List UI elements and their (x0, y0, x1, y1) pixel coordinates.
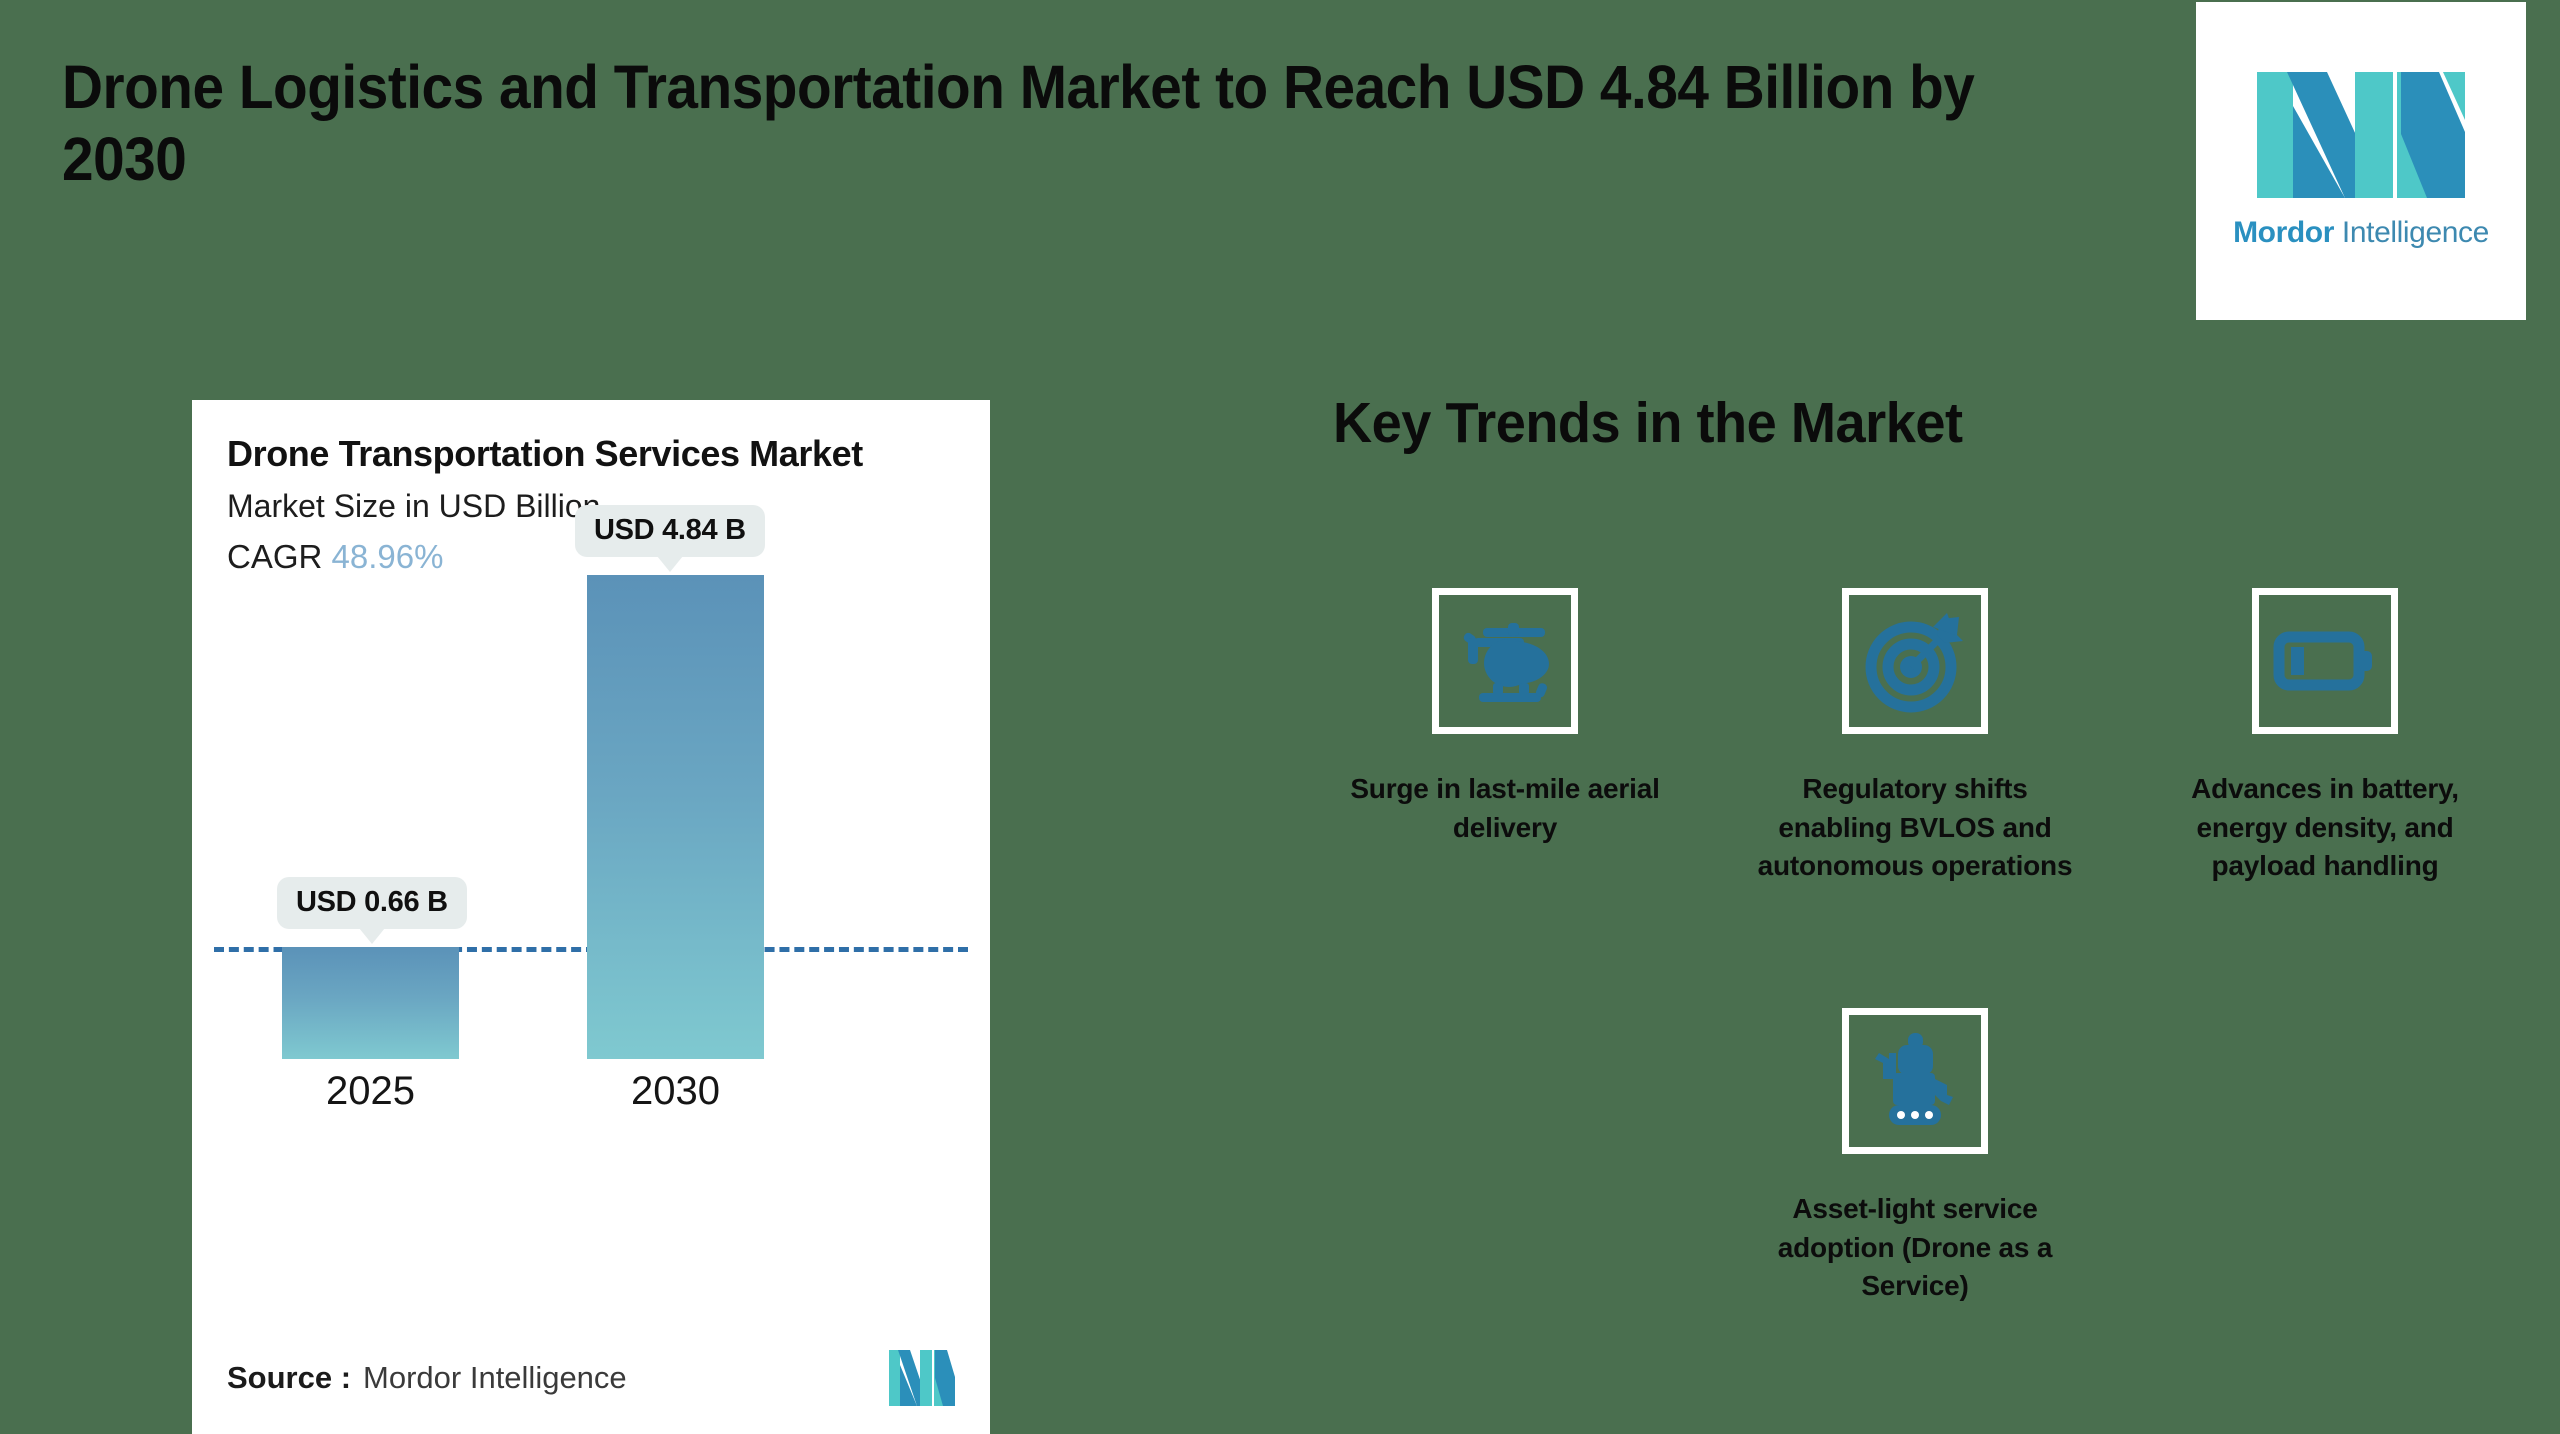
trend-icon-frame (2252, 588, 2398, 734)
mordor-intelligence-mark-icon (889, 1350, 955, 1406)
battery-icon (2273, 609, 2377, 713)
source-label: Source : (227, 1360, 351, 1396)
brand-wordmark-light: Intelligence (2334, 216, 2489, 249)
x-axis-label-2025: 2025 (282, 1069, 459, 1114)
source-value: Mordor Intelligence (363, 1360, 627, 1396)
bar-2025[interactable] (282, 947, 459, 1059)
brand-logo-card: Mordor Intelligence (2196, 2, 2526, 320)
trend-caption: Asset-light service adoption (Drone as a… (1750, 1190, 2080, 1306)
chart-cagr-value: 48.96% (332, 538, 444, 575)
source-row: Source : Mordor Intelligence (227, 1350, 955, 1406)
brand-wordmark: Mordor Intelligence (2233, 216, 2489, 250)
trend-item-battery-advances: Advances in battery, energy density, and… (2145, 588, 2505, 886)
x-axis-label-2030: 2030 (587, 1069, 764, 1114)
trend-item-regulatory-shifts: Regulatory shifts enabling BVLOS and aut… (1735, 588, 2095, 886)
trend-caption: Advances in battery, energy density, and… (2160, 770, 2490, 886)
key-trends-heading: Key Trends in the Market (1333, 390, 1963, 456)
trend-icon-frame (1432, 588, 1578, 734)
bar-value-label-2025: USD 0.66 B (277, 877, 467, 929)
brand-wordmark-bold: Mordor (2233, 216, 2334, 249)
bar-value-label-2030: USD 4.84 B (575, 505, 765, 557)
trend-caption: Surge in last-mile aerial delivery (1340, 770, 1670, 847)
bar-chart-plot: USD 4.84 B USD 0.66 B 2025 2030 (192, 575, 990, 1255)
trend-icon-frame (1842, 588, 1988, 734)
page-title: Drone Logistics and Transportation Marke… (62, 52, 1978, 196)
helicopter-icon (1453, 609, 1557, 713)
trend-icon-frame (1842, 1008, 1988, 1154)
trend-item-last-mile-delivery: Surge in last-mile aerial delivery (1325, 588, 1685, 847)
trend-caption: Regulatory shifts enabling BVLOS and aut… (1750, 770, 2080, 886)
chart-card: Drone Transportation Services Market Mar… (192, 400, 990, 1434)
chart-title: Drone Transportation Services Market (227, 433, 863, 475)
chart-subtitle: Market Size in USD Billion (227, 488, 600, 525)
target-arrow-icon (1863, 609, 1967, 713)
mordor-intelligence-logo-icon (2257, 72, 2465, 198)
bar-2030[interactable] (587, 575, 764, 1059)
trend-item-asset-light-service: Asset-light service adoption (Drone as a… (1735, 1008, 2095, 1306)
robot-icon (1863, 1029, 1967, 1133)
chart-cagr-label: CAGR (227, 538, 322, 575)
chart-cagr: CAGR 48.96% (227, 538, 443, 576)
